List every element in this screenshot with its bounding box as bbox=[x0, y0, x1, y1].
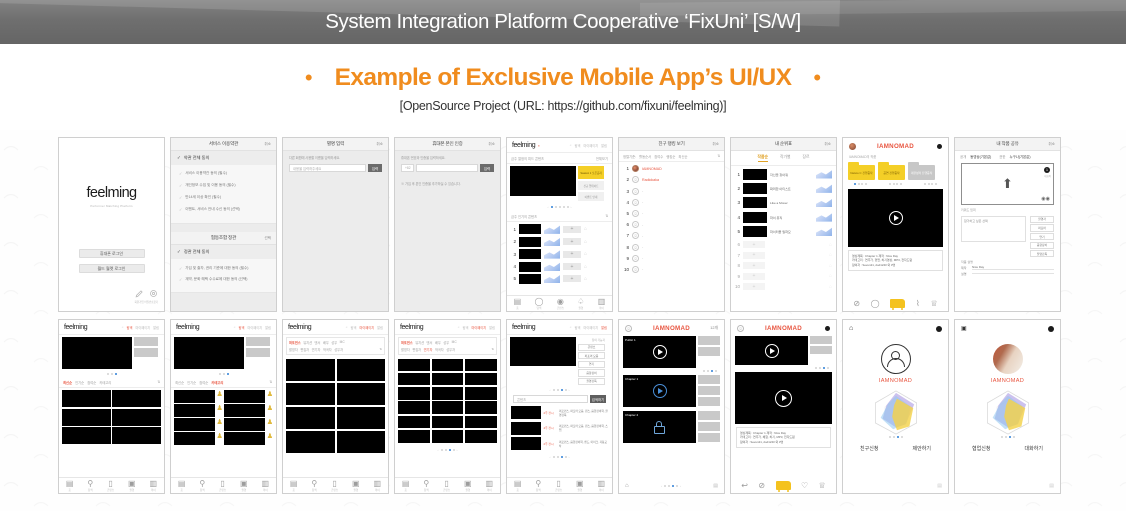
friend-name[interactable]: - bbox=[642, 267, 643, 271]
placeholder-block[interactable] bbox=[134, 348, 158, 357]
category-filter-box[interactable]: 퍼포먼스 뮤지션 댄서 배우 성우 MC 촬영자 편집자 연기자 작곡자 성우자… bbox=[398, 337, 497, 355]
grid-cell[interactable] bbox=[398, 359, 430, 372]
result-row[interactable]: 2주 전시 퍼포먼스, 음향장비력, 밴드, 마이크, 자동교차 bbox=[511, 437, 608, 450]
chapter-2-row[interactable]: Chapter 2 bbox=[619, 411, 724, 443]
screen-profile-b[interactable]: ▣ IAMNOMAD 협업신청 대화하기 ▤ bbox=[954, 319, 1061, 494]
tag-list[interactable]: 촬영자 퍼포머 연기 음향장비 촬영감독 bbox=[1030, 216, 1054, 258]
grid-cell[interactable] bbox=[62, 390, 111, 407]
grid-cell[interactable] bbox=[465, 373, 497, 386]
grid-cell[interactable] bbox=[465, 401, 497, 414]
tag-item[interactable]: 콘텐츠 bbox=[578, 344, 605, 351]
cat-item[interactable]: 배우 bbox=[435, 340, 441, 345]
placeholder-block[interactable] bbox=[698, 411, 720, 420]
profile-b-actions[interactable]: 협업신청 대화하기 bbox=[955, 445, 1060, 452]
block-icon[interactable]: ⊘ bbox=[758, 481, 765, 490]
folder-dots[interactable] bbox=[924, 183, 937, 185]
cart-icon[interactable] bbox=[776, 481, 791, 490]
folder-row[interactable]: Nature C 진행중작 공연 진행중작 미완성작 진행중작 bbox=[843, 162, 948, 180]
nav-item[interactable]: 탐색 bbox=[239, 325, 245, 330]
grid-cell[interactable] bbox=[398, 430, 430, 443]
play-icon[interactable] bbox=[653, 345, 667, 359]
placeholder-block[interactable] bbox=[246, 348, 270, 357]
tab-shoot[interactable]: ▣촬영 bbox=[240, 479, 248, 492]
terms-item[interactable]: ✓개인정보 수집 및 이용 동의 (필수) bbox=[171, 180, 276, 192]
chapter-1-row[interactable]: Chapter 1 bbox=[619, 375, 724, 407]
nav-search-icon[interactable]: ⌕ bbox=[346, 325, 348, 330]
permission-value[interactable]: 누구나(기본값) bbox=[1009, 154, 1030, 159]
nav-item[interactable]: 마이페이지 bbox=[247, 325, 262, 330]
player-action-bar[interactable]: ↩ ⊘ ♡ ♕ bbox=[731, 481, 836, 490]
nickname-submit-button[interactable]: 입력 bbox=[368, 164, 382, 172]
avatar[interactable]: ☺ bbox=[625, 325, 632, 332]
hero-video[interactable] bbox=[62, 337, 132, 369]
grid-cell[interactable] bbox=[224, 432, 265, 445]
cat-item[interactable]: 성우 bbox=[331, 340, 337, 345]
tag-item[interactable]: 퍼포머 bbox=[1030, 224, 1054, 231]
grid-cell[interactable] bbox=[398, 373, 430, 386]
placeholder-block[interactable] bbox=[698, 386, 720, 395]
profile-dots[interactable] bbox=[955, 435, 1060, 439]
upload-dropzone[interactable]: ⬆ 1 대표작 ◉◉ bbox=[961, 163, 1054, 205]
friend-name[interactable]: IAMNOMAD bbox=[642, 167, 662, 171]
add-button[interactable]: + bbox=[743, 252, 765, 259]
login-help-links[interactable]: 회원가입 비밀번호찾기 bbox=[131, 300, 158, 304]
tab-explore[interactable]: ⚲탐색 bbox=[423, 479, 429, 492]
phone-auth-input-row[interactable]: +82 입력 bbox=[395, 164, 500, 172]
filter-option[interactable]: 최신순 bbox=[678, 154, 687, 159]
keyword-input[interactable]: 참가하고 싶은 선택 bbox=[961, 216, 1026, 242]
placeholder-block[interactable] bbox=[810, 346, 832, 354]
filter-option[interactable]: 카테고리 bbox=[211, 380, 223, 385]
terms-item[interactable]: ✓서비스 이용약관 동의 (필수) bbox=[171, 168, 276, 180]
cat-item[interactable]: 작곡자 bbox=[323, 347, 332, 352]
feed-nav[interactable]: ⌕ 탐색 마이페이지 알림 bbox=[570, 143, 607, 148]
play-icon[interactable] bbox=[765, 344, 779, 358]
nav-item[interactable]: 마이페이지 bbox=[359, 325, 374, 330]
list-item[interactable]: 8☺- bbox=[624, 244, 719, 251]
cat-item[interactable]: 댄서 bbox=[427, 340, 433, 345]
cat-item[interactable]: 성우자 bbox=[446, 347, 455, 352]
tab-my[interactable]: ▥마이 bbox=[149, 479, 157, 492]
avatar[interactable]: ☺ bbox=[737, 325, 744, 332]
avatar[interactable]: ☺ bbox=[632, 176, 639, 183]
screen-feed[interactable]: feelming ▪ ⌕ 탐색 마이페이지 알림 금주 열정의 피드 콘텐츠 전… bbox=[506, 137, 613, 312]
player-top-row[interactable] bbox=[731, 336, 836, 365]
nav-item[interactable]: 탐색 bbox=[575, 143, 581, 148]
grid-cell[interactable] bbox=[112, 409, 161, 426]
nav-item[interactable]: 알림 bbox=[601, 143, 607, 148]
screen-category-2col[interactable]: feelming ⌕ 탐색 마이페이지 알림 퍼포먼스 뮤지션 댄서 배우 성우 bbox=[282, 319, 389, 494]
bottom-tabbar[interactable]: ▤홈 ◯탐색 ◉콘텐츠 ♤촬영 ▥마이 bbox=[507, 295, 612, 311]
cat-item[interactable]: 뮤지션 bbox=[303, 340, 312, 345]
hero-side[interactable] bbox=[246, 337, 270, 369]
propose-button[interactable]: 제안하기 bbox=[913, 445, 931, 452]
feed-side-tag[interactable]: Season 1 오픈공지 bbox=[578, 166, 604, 179]
grid-cell[interactable] bbox=[62, 427, 111, 444]
results-pager[interactable]: ‹› bbox=[507, 453, 612, 461]
thumbnail[interactable] bbox=[743, 212, 767, 223]
list-item[interactable]: 2+⌂ bbox=[511, 237, 608, 247]
search-input[interactable]: 콘텐츠 bbox=[513, 395, 588, 403]
thumbnail[interactable] bbox=[743, 197, 767, 208]
tab-content[interactable]: ▯콘텐츠 bbox=[107, 479, 114, 492]
nav-item[interactable]: 알림 bbox=[265, 325, 271, 330]
chapter-card[interactable]: Chapter 1 bbox=[623, 375, 696, 407]
list-item[interactable]: 7☺- bbox=[624, 232, 719, 239]
thumbnail[interactable] bbox=[511, 437, 541, 450]
grid-cell[interactable] bbox=[337, 383, 386, 405]
phone-number-input[interactable] bbox=[416, 164, 478, 172]
friend-name[interactable]: - bbox=[642, 189, 643, 193]
tag-item[interactable]: 촬영감독 bbox=[578, 378, 605, 385]
cart-icon[interactable] bbox=[890, 299, 905, 308]
sort-icon[interactable]: ⇅ bbox=[269, 380, 272, 384]
screen-category-3col[interactable]: feelming ⌕ 탐색 마이페이지 알림 퍼포먼스 뮤지션 댄서 배우 성우 bbox=[394, 319, 501, 494]
phone-auth-close-button[interactable]: 취소 bbox=[488, 142, 495, 147]
list-item[interactable]: 1+⌂ bbox=[511, 224, 608, 234]
nav-item[interactable]: 탐색 bbox=[351, 325, 357, 330]
tag-item[interactable]: 촬영자 bbox=[1030, 216, 1054, 223]
terms-close-button[interactable]: 취소 bbox=[264, 142, 271, 147]
cat-item[interactable]: 연기자 bbox=[424, 347, 433, 352]
tab-shoot[interactable]: ▣촬영 bbox=[128, 479, 136, 492]
wallet-login-button[interactable]: 월드 월렛 로그인 bbox=[79, 264, 145, 273]
table-row[interactable]: 4하이 뮤직 bbox=[735, 212, 832, 223]
tab-home[interactable]: ▤홈 bbox=[402, 479, 410, 492]
content-grid[interactable] bbox=[59, 388, 164, 446]
friend-name[interactable]: - bbox=[642, 245, 643, 249]
add-button[interactable]: + bbox=[743, 283, 765, 290]
nav-item[interactable]: 알림 bbox=[601, 325, 607, 330]
ranking-tabs[interactable]: 작품순 작가별 장르 bbox=[731, 151, 836, 166]
grid-cell[interactable] bbox=[398, 416, 430, 429]
grid-awards-nav[interactable]: ⌕ 탐색 마이페이지 알림 bbox=[234, 325, 271, 330]
tab-content[interactable]: ▯콘텐츠 bbox=[443, 479, 450, 492]
player-side[interactable] bbox=[810, 336, 832, 365]
screen-player[interactable]: ☺ IAMNOMAD 영상제목 : Chapter 1 제작 : Nice Da… bbox=[730, 319, 837, 494]
play-icon[interactable] bbox=[653, 384, 667, 398]
nav-item[interactable]: 마이페이지 bbox=[135, 325, 150, 330]
action-bar[interactable]: ⊘ ◯ ⌇ ♕ bbox=[843, 299, 948, 308]
field-value[interactable] bbox=[972, 273, 1054, 274]
grid-cell[interactable] bbox=[337, 431, 386, 453]
cat-item[interactable]: MC bbox=[452, 340, 457, 345]
add-button[interactable]: + bbox=[563, 251, 581, 258]
login-corner-actions[interactable]: 회원가입 비밀번호찾기 bbox=[131, 289, 158, 304]
avatar[interactable]: ☺ bbox=[632, 255, 639, 262]
list-item[interactable]: 3☺- bbox=[624, 188, 719, 195]
award-grid[interactable]: ♟♟ ♟♟ ♟♟ ♟♟ bbox=[171, 388, 276, 447]
friend-rank-close-button[interactable]: 취소 bbox=[712, 142, 719, 147]
chapter-card[interactable]: Public 1 bbox=[623, 336, 696, 368]
tab-shoot[interactable]: ▣촬영 bbox=[576, 479, 584, 492]
cat-item[interactable]: 촬영자 bbox=[289, 347, 298, 352]
profile-b-topbar[interactable]: ▣ bbox=[955, 320, 1060, 337]
menu-icon[interactable]: ▤ bbox=[1049, 483, 1054, 489]
cat-item[interactable]: 편집자 bbox=[412, 347, 421, 352]
folder-dots[interactable] bbox=[854, 183, 867, 185]
tab-explore[interactable]: ⚲탐색 bbox=[311, 479, 317, 492]
chapter-side[interactable] bbox=[698, 375, 720, 407]
grid-feed-nav[interactable]: ⌕ 탐색 마이페이지 알림 bbox=[122, 325, 159, 330]
bottom-tabbar[interactable]: ▤홈 ⚲탐색 ▯콘텐츠 ▣촬영 ▥마이 bbox=[283, 477, 388, 493]
tag-item[interactable]: 촬영감독 bbox=[1030, 250, 1054, 257]
grid-cell[interactable] bbox=[112, 390, 161, 407]
placeholder-block[interactable] bbox=[134, 337, 158, 346]
camera-icon[interactable]: ▣ bbox=[961, 325, 967, 332]
tag-item[interactable]: 퍼포머 모음 bbox=[578, 352, 605, 359]
avatar[interactable] bbox=[632, 165, 639, 172]
grid-cell[interactable] bbox=[337, 407, 386, 429]
screen-nickname[interactable]: 별명 입력 취소 다른 회원에 사용할 이름을 입력하세요. 내용을 입력하주세… bbox=[282, 137, 389, 312]
table-row[interactable]: 1자신을 찾아줘 bbox=[735, 169, 832, 180]
menu-icon[interactable]: ▤ bbox=[937, 483, 942, 489]
placeholder-block[interactable] bbox=[698, 347, 720, 356]
video-player[interactable] bbox=[848, 189, 943, 247]
nickname-close-button[interactable]: 취소 bbox=[376, 142, 383, 147]
grid-cell[interactable] bbox=[174, 432, 215, 445]
thumbnail[interactable] bbox=[511, 406, 541, 419]
info-field[interactable]: 설명 bbox=[955, 272, 1060, 277]
nav-search-icon[interactable]: ⌕ bbox=[570, 143, 572, 148]
grid-cell[interactable] bbox=[465, 387, 497, 400]
feed-side-tags[interactable]: Season 1 오픈공지 신규 업데이트 이벤트 안내 bbox=[578, 166, 604, 201]
nav-item[interactable]: 알림 bbox=[153, 325, 159, 330]
screen-search[interactable]: feelming ⌕ 탐색 마이페이지 알림 참여 가능자 콘텐츠 퍼포머 모음… bbox=[506, 319, 613, 494]
comment-icon[interactable]: ◯ bbox=[871, 299, 880, 308]
screen-chapters[interactable]: ☺ IAMNOMAD 12개 Public 1 Chapter 1 bbox=[618, 319, 725, 494]
avatar[interactable] bbox=[881, 344, 911, 374]
list-item[interactable]: 9☺- bbox=[624, 255, 719, 262]
thumbnail[interactable] bbox=[519, 249, 541, 259]
nav-search-icon[interactable]: ⌕ bbox=[458, 325, 460, 330]
tab-my[interactable]: ▥마이 bbox=[373, 479, 381, 492]
play-icon[interactable] bbox=[889, 211, 903, 225]
chapter-dots[interactable] bbox=[619, 368, 724, 374]
avatar[interactable]: ☺ bbox=[632, 244, 639, 251]
sort-icon[interactable]: ⇅ bbox=[717, 154, 720, 158]
cat-item[interactable]: 성우자 bbox=[334, 347, 343, 352]
cat-item[interactable]: MC bbox=[340, 340, 345, 345]
add-button[interactable]: + bbox=[563, 238, 581, 245]
thumbnail[interactable] bbox=[519, 274, 541, 284]
tab-by-author[interactable]: 작가별 bbox=[780, 155, 790, 162]
screen-phone-auth[interactable]: 휴대폰 본인 인증 취소 휴대폰 번호와 인증을 입력하세요. +82 입력 ※… bbox=[394, 137, 501, 312]
phone-auth-submit-button[interactable]: 입력 bbox=[480, 164, 494, 172]
nav-item[interactable]: 알림 bbox=[489, 325, 495, 330]
terms-item[interactable]: ✓이벤트, 서비스 안내 수신 동의 (선택) bbox=[171, 203, 276, 215]
grid-cell[interactable] bbox=[62, 409, 111, 426]
filter-option[interactable]: 인기순 bbox=[75, 380, 84, 385]
filter-option[interactable]: 최신순 bbox=[63, 380, 72, 385]
terms-item[interactable]: ✓가입 및 출자, 권리 기준에 대한 동의 (필수) bbox=[171, 262, 276, 274]
list-item[interactable]: 6☺- bbox=[624, 221, 719, 228]
tab-my[interactable]: ▥마이 bbox=[598, 297, 606, 310]
tab-home[interactable]: ▤홈 bbox=[178, 479, 186, 492]
placeholder-block[interactable] bbox=[698, 397, 720, 406]
tab-shoot[interactable]: ▣촬영 bbox=[464, 479, 472, 492]
screen-my-ranking[interactable]: 내 순위표 취소 작품순 작가별 장르 1자신을 찾아줘 2화려한 아티스트 3… bbox=[730, 137, 837, 312]
filter-option[interactable]: 참여순 bbox=[87, 380, 96, 385]
screen-nomad-folders[interactable]: IAMNOMAD IAMNOMAD의 작품 Nature C 진행중작 공연 진… bbox=[842, 137, 949, 312]
carousel-dot[interactable] bbox=[559, 206, 561, 208]
close-icon[interactable] bbox=[936, 326, 942, 332]
bottom-tabbar[interactable]: ▤홈 ⚲탐색 ▯콘텐츠 ▣촬영 ▥마이 bbox=[395, 477, 500, 493]
page-dots[interactable]: ‹ › bbox=[395, 445, 500, 455]
cat-item[interactable]: 연기자 bbox=[312, 347, 321, 352]
grid-cell[interactable] bbox=[432, 359, 464, 372]
video-player-main[interactable] bbox=[735, 372, 832, 424]
tab-explore[interactable]: ⚲탐색 bbox=[199, 479, 205, 492]
avatar[interactable]: ☺ bbox=[632, 188, 639, 195]
cat-item[interactable]: 퍼포먼스 bbox=[401, 340, 413, 345]
avatar[interactable] bbox=[849, 143, 856, 150]
placeholder-block[interactable] bbox=[698, 375, 720, 384]
screen-friend-ranking[interactable]: 친구 랭킹 보기 취소 정렬기준: 활동순서 참여수 랭킹순 최신순 ⇅ 1IA… bbox=[618, 137, 725, 312]
nav-search-icon[interactable]: ⌕ bbox=[122, 325, 124, 330]
grid-cell[interactable] bbox=[432, 416, 464, 429]
feed-carousel-dots[interactable]: ‹ › bbox=[507, 203, 612, 211]
grid-cell[interactable] bbox=[224, 418, 265, 431]
search-bar[interactable]: 콘텐츠 검색하기 bbox=[507, 395, 612, 403]
tab-content[interactable]: ▯콘텐츠 bbox=[555, 479, 562, 492]
filter-option[interactable]: 인기순 bbox=[187, 380, 196, 385]
upload-icon[interactable]: ⬆ bbox=[1002, 176, 1013, 192]
collab-request-button[interactable]: 협업신청 bbox=[972, 445, 990, 452]
terms-agree-all-2[interactable]: ✓ 정관 전체 동의 bbox=[171, 245, 276, 259]
thumbnail[interactable] bbox=[519, 224, 541, 234]
sort-icon[interactable]: ⇅ bbox=[379, 347, 382, 351]
hero-video[interactable] bbox=[174, 337, 244, 369]
video-player-small[interactable] bbox=[735, 336, 808, 365]
grid-filters[interactable]: 최신순 인기순 참여순 카테고리 ⇅ bbox=[171, 377, 276, 388]
grid-cell[interactable] bbox=[224, 404, 265, 417]
add-button[interactable]: + bbox=[743, 273, 765, 280]
prev-arrow-icon[interactable]: ‹ bbox=[438, 448, 439, 452]
placeholder-block[interactable] bbox=[698, 433, 720, 442]
cat-item[interactable]: 댄서 bbox=[315, 340, 321, 345]
tag-item[interactable]: 음향장비 bbox=[1030, 242, 1054, 249]
tab-by-work[interactable]: 작품순 bbox=[758, 155, 768, 162]
tab-shoot[interactable]: ▣촬영 bbox=[352, 479, 360, 492]
close-icon[interactable] bbox=[1048, 326, 1054, 332]
add-button[interactable]: + bbox=[563, 226, 581, 233]
screen-grid-feed-awards[interactable]: feelming ⌕ 탐색 마이페이지 알림 최신순 인기순 참여 bbox=[170, 319, 277, 494]
nickname-input-row[interactable]: 내용을 입력하주세요 입력 bbox=[283, 164, 388, 172]
nav-search-icon[interactable]: ⌕ bbox=[234, 325, 236, 330]
profile-a-actions[interactable]: 친구신청 제안하기 bbox=[843, 445, 948, 452]
folder-dots[interactable] bbox=[889, 183, 902, 185]
folder-item[interactable]: 미완성작 진행중작 bbox=[908, 162, 935, 180]
thumbnail[interactable] bbox=[743, 183, 767, 194]
friend-rank-filters[interactable]: 정렬기준: 활동순서 참여수 랭킹순 최신순 ⇅ bbox=[619, 151, 724, 162]
list-item[interactable]: 5☺- bbox=[624, 210, 719, 217]
tag-item[interactable]: 음향장비 bbox=[578, 369, 605, 376]
placeholder-block[interactable] bbox=[698, 422, 720, 431]
chapter-public[interactable]: Public 1 bbox=[619, 336, 724, 368]
tab-by-genre[interactable]: 장르 bbox=[802, 155, 809, 162]
list-item[interactable]: 1IAMNOMAD bbox=[624, 165, 719, 172]
list-item[interactable]: 2☺Radiokaka bbox=[624, 176, 719, 183]
grid-cell[interactable] bbox=[432, 387, 464, 400]
list-item[interactable]: 10☺- bbox=[624, 266, 719, 273]
screen-grid-feed[interactable]: feelming ⌕ 탐색 마이페이지 알림 최신순 인기순 참여 bbox=[58, 319, 165, 494]
tab-my[interactable]: ▥마이 bbox=[261, 479, 269, 492]
screen-login[interactable]: feelming Performer Matching Platform 휴대폰… bbox=[58, 137, 165, 312]
list-item[interactable]: 3+⌂ bbox=[511, 249, 608, 259]
grid-filters[interactable]: 최신순 인기순 참여순 카테고리 ⇅ bbox=[59, 377, 164, 388]
chapter-side[interactable] bbox=[698, 336, 720, 368]
profile-dots[interactable] bbox=[843, 435, 948, 439]
thumbnail[interactable] bbox=[743, 226, 767, 237]
bottom-tabbar[interactable]: ▤홈 ⚲탐색 ▯콘텐츠 ▣촬영 ▥마이 bbox=[59, 477, 164, 493]
friend-name[interactable]: - bbox=[642, 234, 643, 238]
bottom-tabbar[interactable]: ▤홈 ⚲탐색 ▯콘텐츠 ▣촬영 ▥마이 bbox=[171, 477, 276, 493]
close-icon[interactable] bbox=[937, 144, 943, 150]
tab-explore[interactable]: ⚲탐색 bbox=[87, 479, 93, 492]
chapter-card-locked[interactable]: Chapter 2 bbox=[623, 411, 696, 443]
nav-item[interactable]: 마이페이지 bbox=[583, 325, 598, 330]
grid-cell[interactable] bbox=[286, 359, 335, 381]
thumbnail[interactable] bbox=[511, 422, 541, 435]
visibility-value[interactable]: 동영상(기본값) bbox=[970, 154, 991, 159]
back-icon[interactable]: ↩ bbox=[741, 481, 748, 490]
grid-cell[interactable] bbox=[112, 427, 161, 444]
block-icon[interactable]: ⊘ bbox=[853, 299, 860, 308]
tag-item[interactable]: 연기 bbox=[1030, 233, 1054, 240]
cat-item[interactable]: 배우 bbox=[323, 340, 329, 345]
nickname-input[interactable]: 내용을 입력하주세요 bbox=[289, 164, 366, 172]
carousel-dot[interactable] bbox=[551, 206, 553, 208]
nav-item[interactable]: 마이페이지 bbox=[583, 143, 598, 148]
cat-item[interactable]: 촬영자 bbox=[401, 347, 410, 352]
chapters-footer[interactable]: ⌂ ‹› ▤ bbox=[619, 482, 724, 490]
avatar[interactable]: ☺ bbox=[632, 266, 639, 273]
nav-item[interactable]: 마이페이지 bbox=[471, 325, 486, 330]
screen-share[interactable]: 내 작품 공유 취소 공개 동영상(기본값) 권한 누구나(기본값) ⬆ 1 대… bbox=[954, 137, 1061, 312]
chapter-side[interactable] bbox=[698, 411, 720, 443]
grid-cell[interactable] bbox=[286, 407, 335, 429]
content-grid[interactable] bbox=[283, 357, 388, 455]
category-nav[interactable]: ⌕ 탐색 마이페이지 알림 bbox=[346, 325, 383, 330]
feed-hero-video[interactable] bbox=[510, 166, 576, 196]
tab-content[interactable]: ◉콘텐츠 bbox=[557, 297, 564, 310]
search-nav[interactable]: ⌕ 탐색 마이페이지 알림 bbox=[570, 325, 607, 330]
table-row[interactable]: 2화려한 아티스트 bbox=[735, 183, 832, 194]
tab-home[interactable]: ▤홈 bbox=[66, 479, 74, 492]
bottom-tabbar[interactable]: ▤홈 ⚲탐색 ▯콘텐츠 ▣촬영 ▥마이 bbox=[507, 477, 612, 493]
menu-icon[interactable]: ▤ bbox=[713, 483, 718, 489]
tab-home[interactable]: ▤홈 bbox=[514, 479, 522, 492]
grid-cell[interactable] bbox=[174, 418, 215, 431]
avatar[interactable] bbox=[993, 344, 1023, 374]
hero-dots[interactable]: ‹› bbox=[507, 387, 612, 394]
nav-item[interactable]: 탐색 bbox=[127, 325, 133, 330]
pen-icon[interactable] bbox=[135, 289, 144, 299]
cat-item[interactable]: 편집자 bbox=[300, 347, 309, 352]
filter-option[interactable]: 최신순 bbox=[175, 380, 184, 385]
sort-icon[interactable]: ⇅ bbox=[157, 380, 160, 384]
tab-explore[interactable]: ⚲탐색 bbox=[535, 479, 541, 492]
friend-name[interactable]: Radiokaka bbox=[642, 178, 659, 182]
cat-item[interactable]: 뮤지션 bbox=[415, 340, 424, 345]
tag-item[interactable]: 연기 bbox=[578, 361, 605, 368]
friend-name[interactable]: - bbox=[642, 200, 643, 204]
like-icon[interactable]: ♕ bbox=[930, 299, 937, 308]
sort-icon[interactable]: ⇅ bbox=[491, 347, 494, 351]
grid-cell[interactable] bbox=[465, 430, 497, 443]
share-options[interactable]: 공개 동영상(기본값) 권한 누구나(기본값) bbox=[955, 151, 1060, 163]
